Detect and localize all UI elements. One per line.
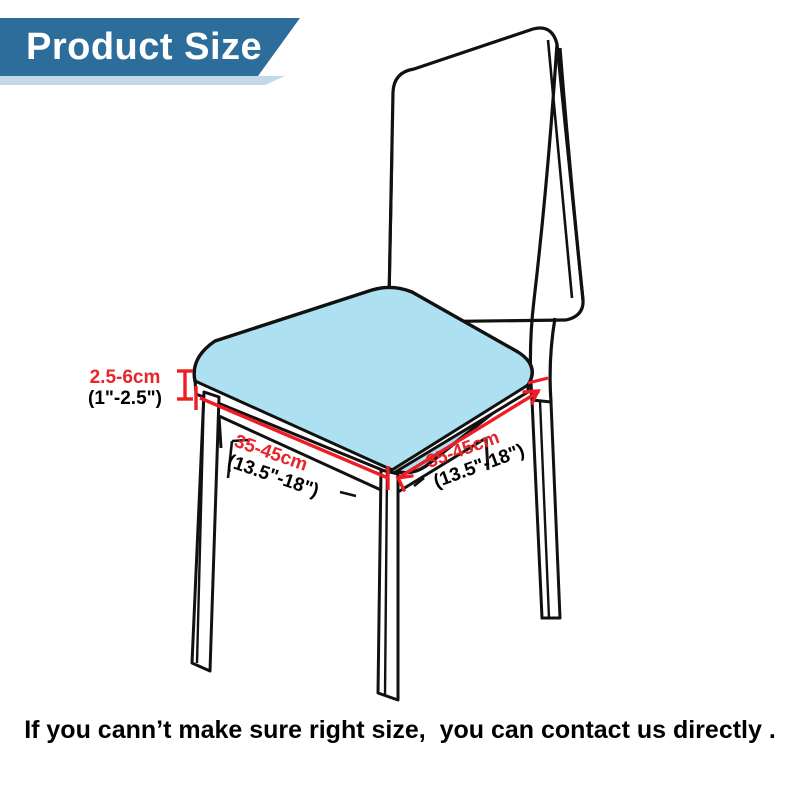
chair-leg-rear-right xyxy=(532,400,560,618)
chair-leg-front-left xyxy=(192,392,219,671)
dimension-marker-seat-height xyxy=(177,371,193,399)
label-seat-height: 2.5-6cm (1"-2.5") xyxy=(88,368,162,409)
chair-leg-front-center xyxy=(378,470,398,700)
label-seat-height-imperial: (1"-2.5") xyxy=(88,389,162,410)
chair-apron-left-drop xyxy=(219,416,221,448)
contact-caption: If you cann’t make sure right size, you … xyxy=(0,716,800,745)
label-seat-height-metric: 2.5-6cm xyxy=(88,368,162,389)
chair-back-post-right-lower xyxy=(550,318,555,402)
